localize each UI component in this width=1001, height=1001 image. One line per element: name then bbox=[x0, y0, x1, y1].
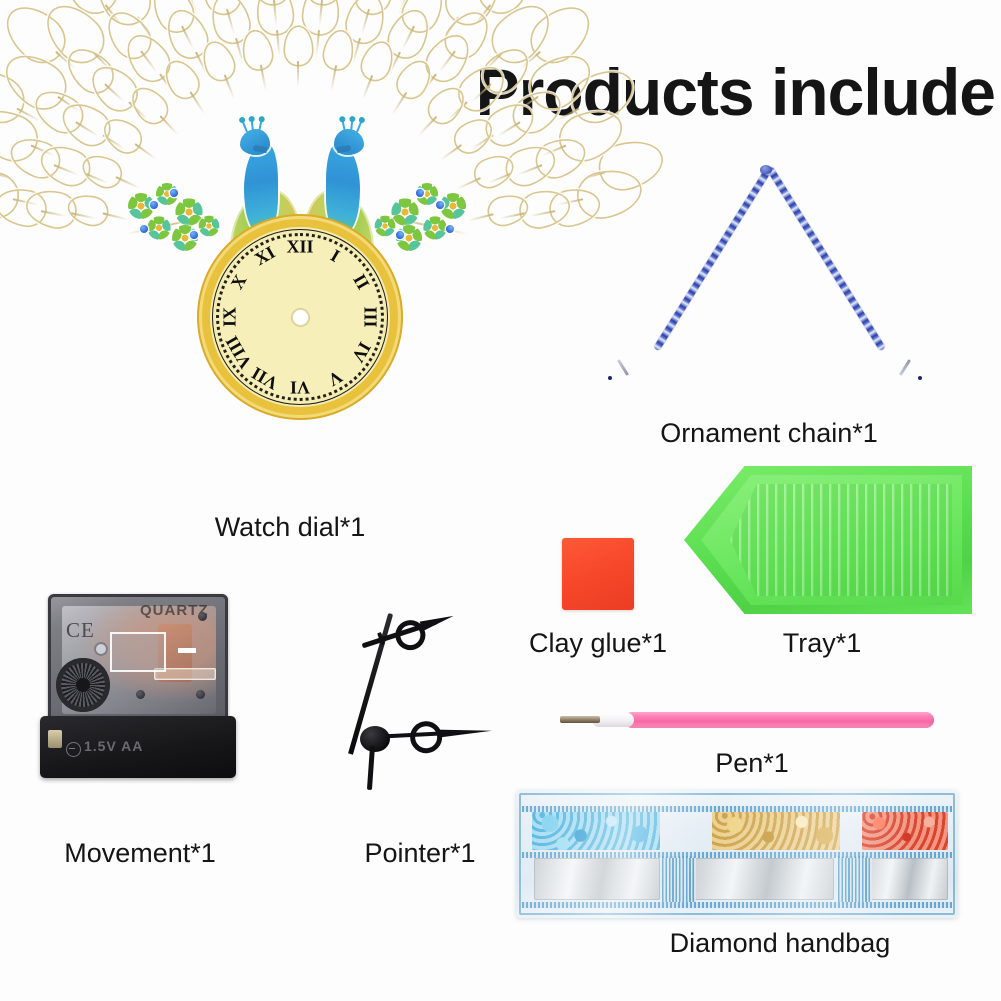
movement-ce-mark: CE bbox=[66, 618, 95, 643]
movement-battery-compartment: 1.5V AA bbox=[40, 716, 236, 778]
hand-stub bbox=[367, 746, 375, 790]
caption-tray: Tray*1 bbox=[742, 628, 902, 659]
chain-end-pin-left bbox=[617, 359, 629, 376]
flower-gem bbox=[436, 201, 444, 209]
movement-screw bbox=[136, 690, 145, 699]
flower-gem bbox=[170, 189, 178, 197]
caption-watch-dial: Watch dial*1 bbox=[150, 512, 430, 543]
pen-illustration bbox=[556, 710, 934, 730]
chain-tip-right bbox=[918, 376, 922, 380]
movement-case: QUARTZ CE bbox=[48, 594, 228, 726]
caption-clay-glue: Clay glue*1 bbox=[508, 628, 688, 659]
chain-apex bbox=[760, 165, 772, 174]
flower-gem bbox=[416, 189, 424, 197]
peacock-head bbox=[240, 129, 270, 155]
peacock-feather bbox=[302, 0, 340, 35]
peacock-beak bbox=[253, 145, 268, 153]
hand-hub bbox=[360, 726, 390, 752]
diamond-handbag-illustration bbox=[516, 790, 958, 918]
flower bbox=[375, 216, 396, 237]
peacock-feather bbox=[486, 192, 529, 227]
peacock-feather bbox=[67, 192, 110, 227]
hour-hand bbox=[361, 606, 477, 650]
movement-setting-wheel[interactable] bbox=[56, 658, 110, 712]
ornament-chain-illustration bbox=[628, 168, 904, 390]
chain-right-leg bbox=[653, 166, 772, 351]
peacock-feather bbox=[79, 151, 125, 191]
product-include-poster: Products include bbox=[0, 0, 1001, 1001]
flower bbox=[440, 193, 466, 219]
bag-outline bbox=[519, 793, 955, 915]
clock-numeral: XII bbox=[286, 237, 313, 258]
peacock-head bbox=[334, 129, 364, 155]
caption-diamond-handbag: Diamond handbag bbox=[630, 928, 930, 959]
peacock-feather bbox=[285, 27, 312, 65]
flower-gem bbox=[150, 201, 158, 209]
peacock-crest bbox=[246, 118, 263, 132]
flower-spray-left bbox=[124, 179, 224, 255]
movement-screw bbox=[196, 690, 205, 699]
caption-ornament-chain: Ornament chain*1 bbox=[604, 418, 934, 449]
second-hand bbox=[382, 727, 494, 740]
movement-screw bbox=[198, 612, 207, 621]
flower bbox=[423, 216, 446, 239]
hour-hand-tip bbox=[420, 611, 455, 631]
clock-numeral: VI bbox=[290, 377, 310, 398]
flower bbox=[147, 216, 170, 239]
chain-left-leg bbox=[767, 166, 886, 351]
clay-glue-illustration bbox=[562, 538, 634, 610]
clock-face: XIIIIIIIIIVVVIVIIVIIIIXXXI bbox=[210, 227, 390, 407]
flower-spray-right bbox=[370, 179, 470, 255]
flower-gem bbox=[190, 231, 198, 239]
movement-illustration: QUARTZ CE 1.5V AA bbox=[40, 594, 236, 786]
caption-pointer: Pointer*1 bbox=[310, 838, 530, 869]
clock-numeral: III bbox=[360, 306, 381, 327]
caption-movement: Movement*1 bbox=[20, 838, 260, 869]
chain-tip-left bbox=[608, 376, 612, 380]
flower bbox=[199, 216, 220, 237]
flower-gem bbox=[446, 225, 454, 233]
peacock-beak bbox=[337, 145, 352, 153]
movement-white-mark bbox=[178, 648, 196, 653]
movement-polarity-icon bbox=[66, 742, 81, 757]
movement-chip-label bbox=[110, 632, 166, 672]
flower-gem bbox=[140, 225, 148, 233]
clock-numeral: IX bbox=[220, 307, 241, 327]
tray-illustration bbox=[684, 466, 972, 614]
chain-end-pin-right bbox=[899, 359, 911, 376]
second-hand-tip bbox=[438, 727, 492, 738]
peacock-neck bbox=[244, 145, 278, 233]
movement-battery-contact bbox=[48, 730, 62, 748]
tray-grooves bbox=[730, 484, 952, 596]
movement-shaft bbox=[94, 642, 108, 656]
pen-barrel bbox=[624, 712, 934, 728]
pointer-illustration bbox=[318, 606, 498, 802]
pen-tip bbox=[560, 716, 600, 723]
clock-center-pin bbox=[292, 309, 309, 326]
peacock-neck bbox=[326, 145, 360, 233]
caption-pen: Pen*1 bbox=[672, 748, 832, 779]
movement-battery-text: 1.5V AA bbox=[84, 738, 143, 754]
peacock-crest bbox=[341, 118, 358, 132]
peacock-feather bbox=[256, 0, 294, 35]
watch-dial-illustration: XIIIIIIIIIVVVIVIIVIIIIXXXI bbox=[88, 135, 508, 510]
flower-gem bbox=[396, 231, 404, 239]
flower bbox=[391, 198, 418, 225]
